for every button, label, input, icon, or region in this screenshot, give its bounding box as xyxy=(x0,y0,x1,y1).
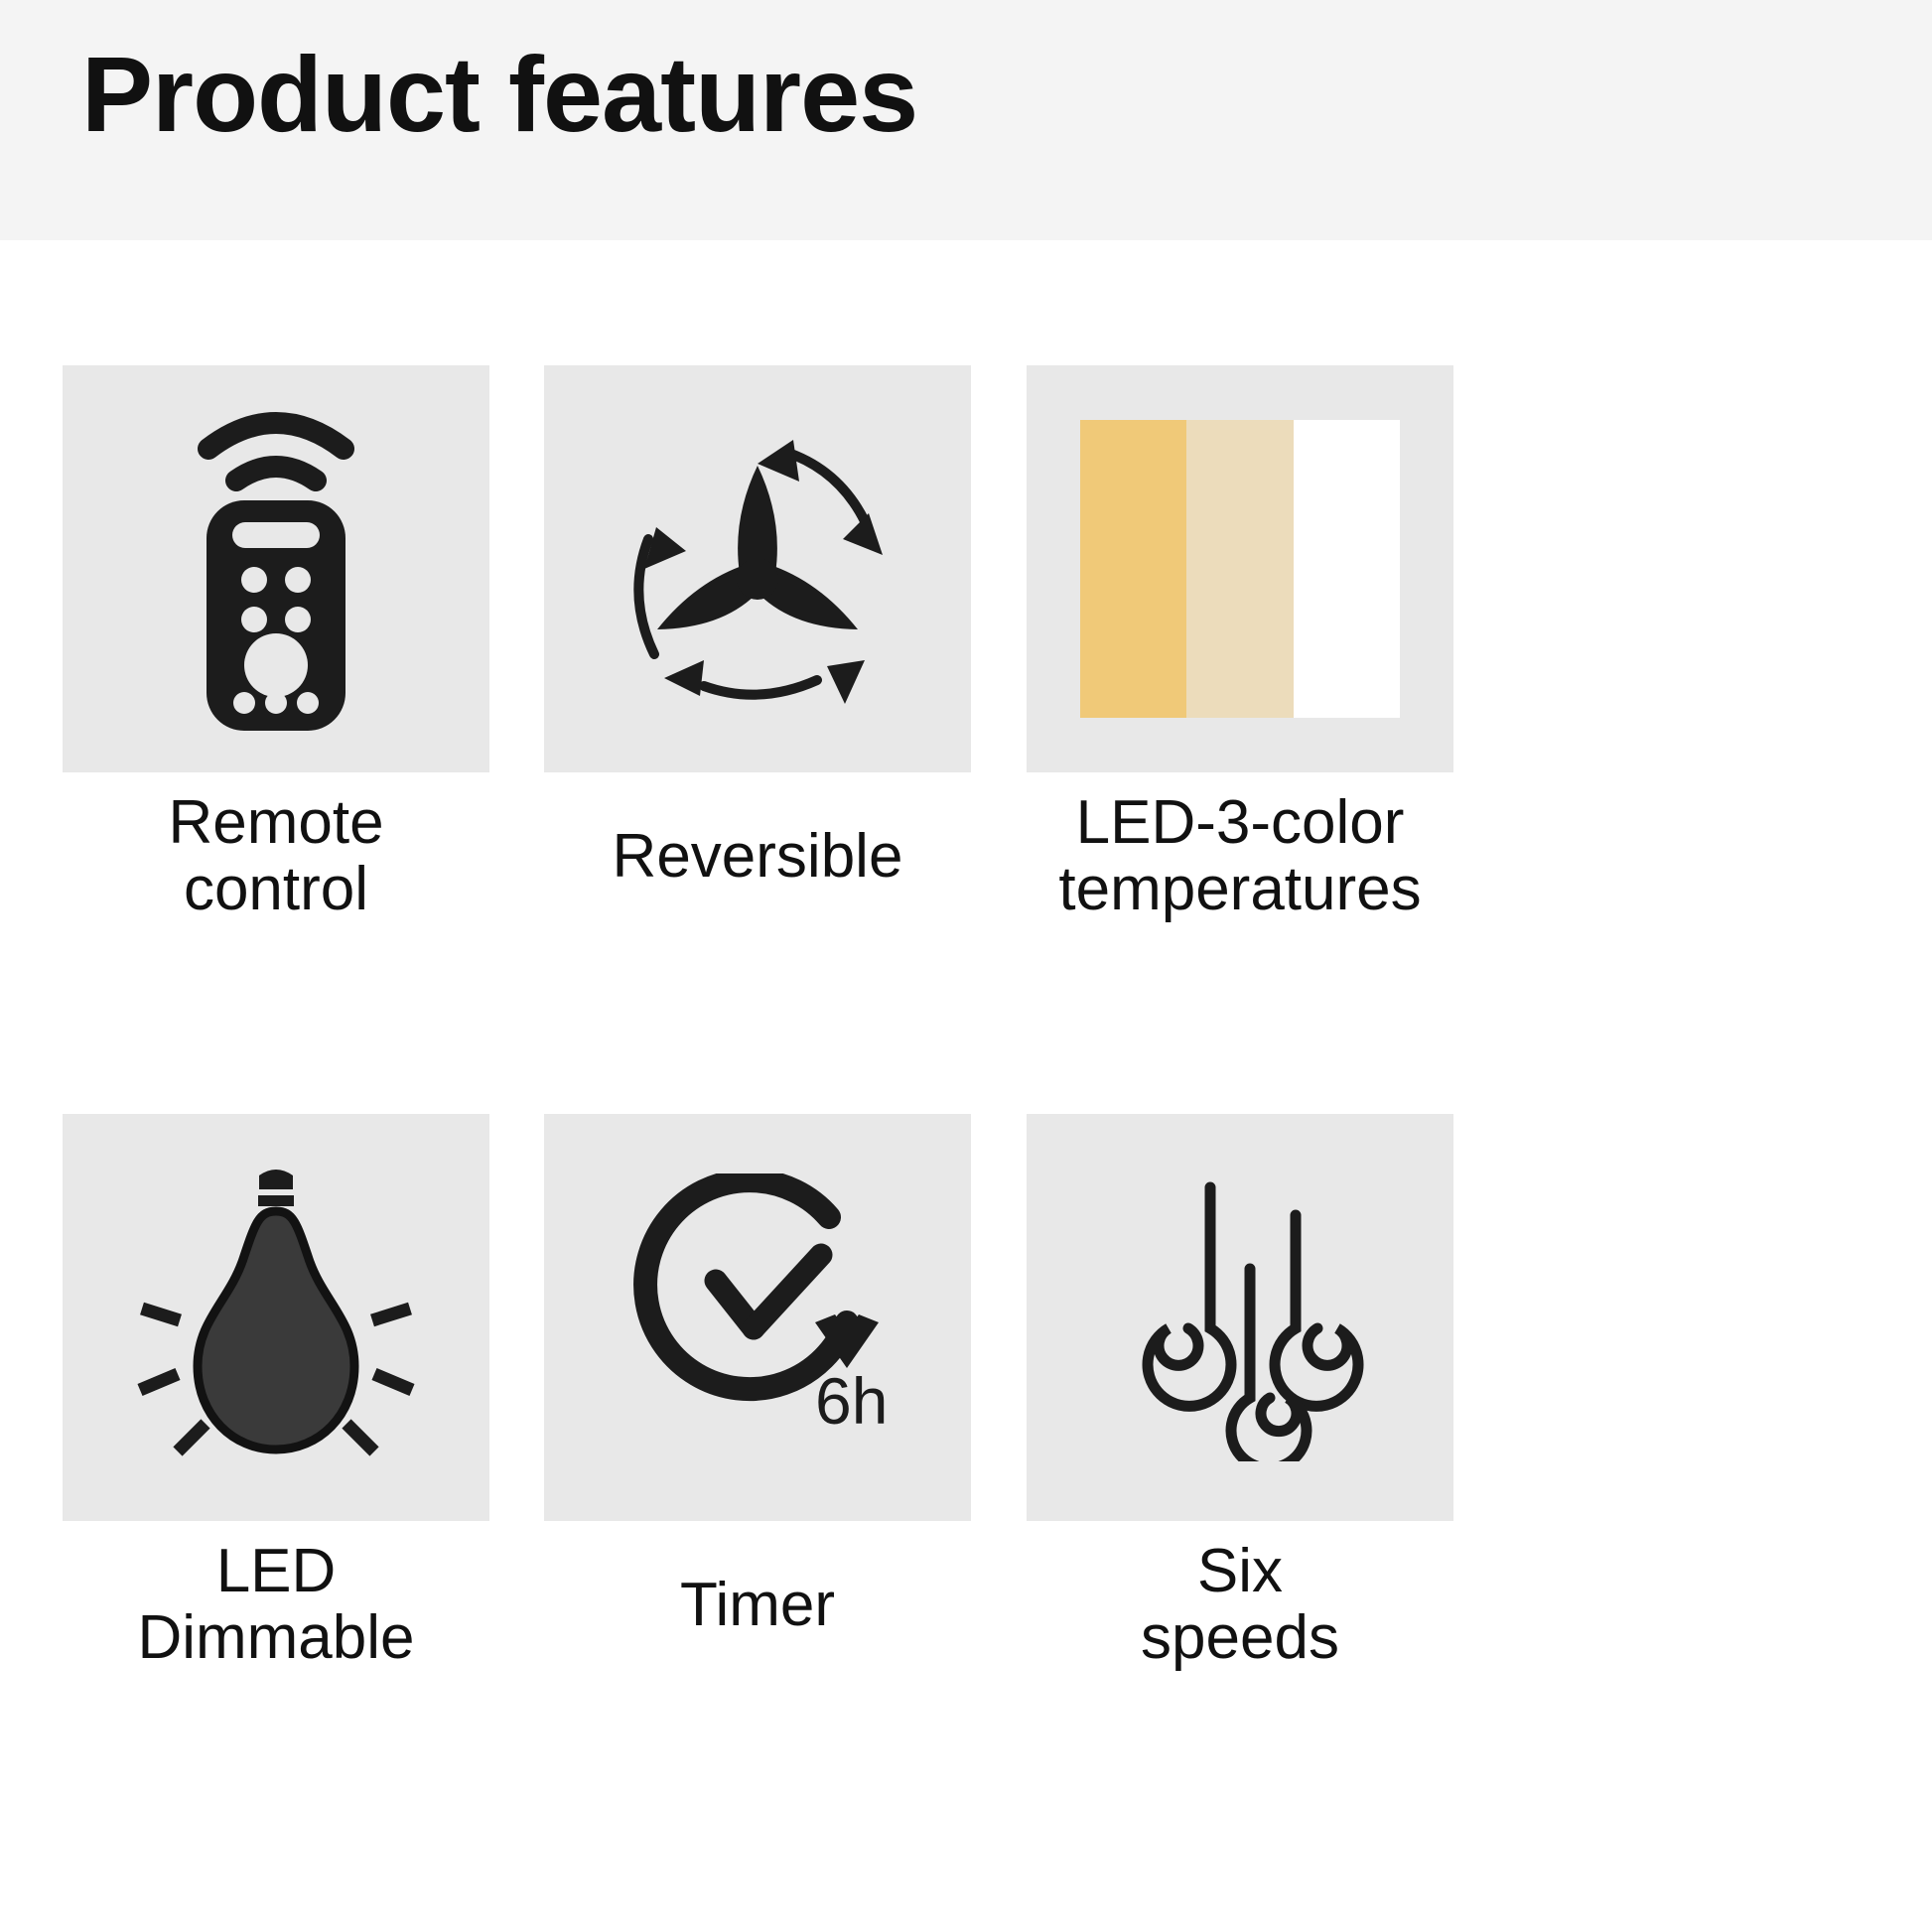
feature-label-remote-control: Remote control xyxy=(63,790,489,923)
feature-label-led-color-temperatures: LED-3-color temperatures xyxy=(1027,790,1453,923)
timer-clock-icon: 6h xyxy=(609,1173,906,1461)
timer-duration-text: 6h xyxy=(815,1364,888,1438)
feature-card-led-dimmable[interactable]: LED Dimmable xyxy=(63,1114,489,1672)
feature-card-six-speeds[interactable]: Six speeds xyxy=(1027,1114,1453,1672)
airflow-speeds-icon xyxy=(1111,1173,1369,1461)
icon-tile-remote-control xyxy=(63,365,489,772)
feature-grid: Remote control xyxy=(0,240,1932,1932)
remote-control-icon xyxy=(157,405,395,733)
icon-tile-timer: 6h xyxy=(544,1114,971,1521)
feature-label-timer: Timer xyxy=(544,1573,971,1639)
reversible-fan-icon xyxy=(609,430,906,708)
feature-card-timer[interactable]: 6h Timer xyxy=(544,1114,971,1639)
icon-tile-led-color-temperatures xyxy=(1027,365,1453,772)
feature-label-led-dimmable: LED Dimmable xyxy=(63,1539,489,1672)
feature-card-led-color-temperatures[interactable]: LED-3-color temperatures xyxy=(1027,365,1453,923)
feature-card-reversible[interactable]: Reversible xyxy=(544,365,971,891)
swatch-warm-white xyxy=(1080,420,1186,718)
feature-label-reversible: Reversible xyxy=(544,824,971,891)
feature-label-six-speeds: Six speeds xyxy=(1027,1539,1453,1672)
swatch-natural-white xyxy=(1186,420,1293,718)
color-temperature-swatches-icon xyxy=(1080,420,1400,718)
icon-tile-led-dimmable xyxy=(63,1114,489,1521)
page-header: Product features xyxy=(0,0,1932,240)
page-title: Product features xyxy=(81,30,917,159)
icon-tile-reversible xyxy=(544,365,971,772)
swatch-cool-white xyxy=(1294,420,1400,718)
feature-card-remote-control[interactable]: Remote control xyxy=(63,365,489,923)
light-bulb-dimmable-icon xyxy=(132,1164,420,1471)
icon-tile-six-speeds xyxy=(1027,1114,1453,1521)
